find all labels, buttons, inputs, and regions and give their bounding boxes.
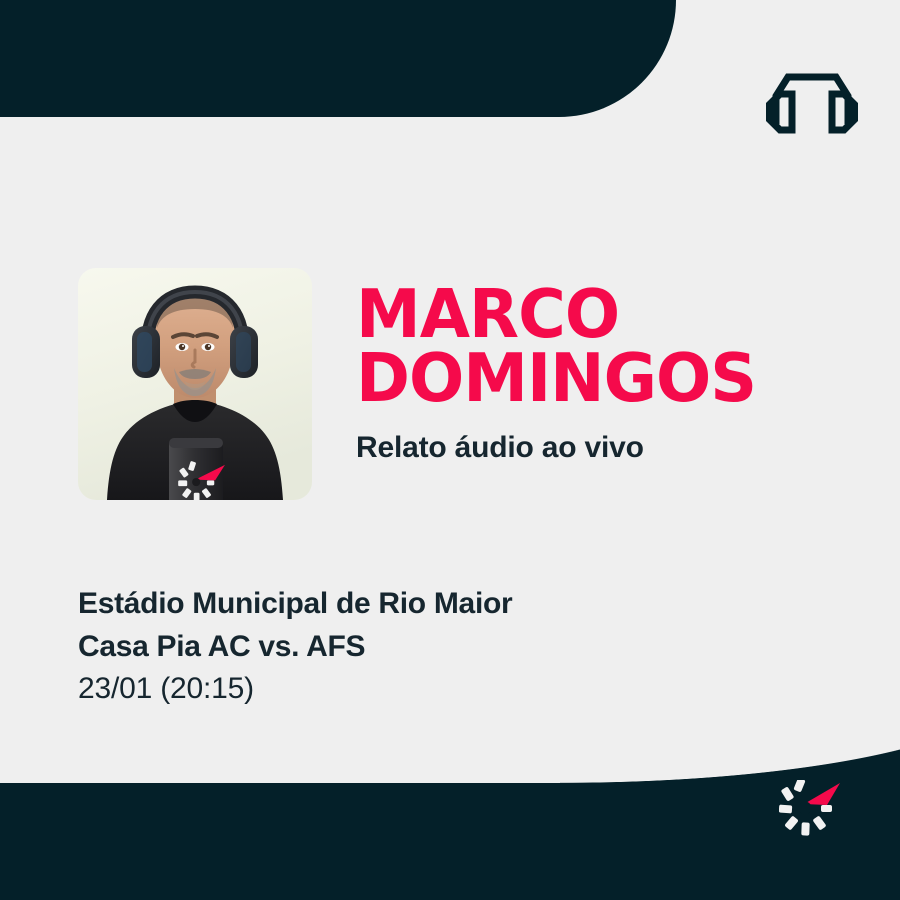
event-match: Casa Pia AC vs. AFS <box>78 626 838 669</box>
event-venue: Estádio Municipal de Rio Maior <box>78 583 838 626</box>
headphones-icon <box>766 62 858 134</box>
talent-photo <box>78 268 312 500</box>
talent-subtitle: Relato áudio ao vivo <box>356 431 876 464</box>
record-speedometer-logo <box>779 780 841 838</box>
broadcast-promo-card: MARCO DOMINGOS Relato áudio ao vivo Está… <box>0 0 900 900</box>
bottom-band-curve <box>560 691 900 783</box>
top-dark-band <box>0 0 676 117</box>
bottom-dark-band <box>0 783 900 900</box>
talent-name-line-2: DOMINGOS <box>356 346 860 410</box>
talent-name-block: MARCO DOMINGOS Relato áudio ao vivo <box>356 282 876 464</box>
talent-name-line-1: MARCO <box>356 282 860 346</box>
